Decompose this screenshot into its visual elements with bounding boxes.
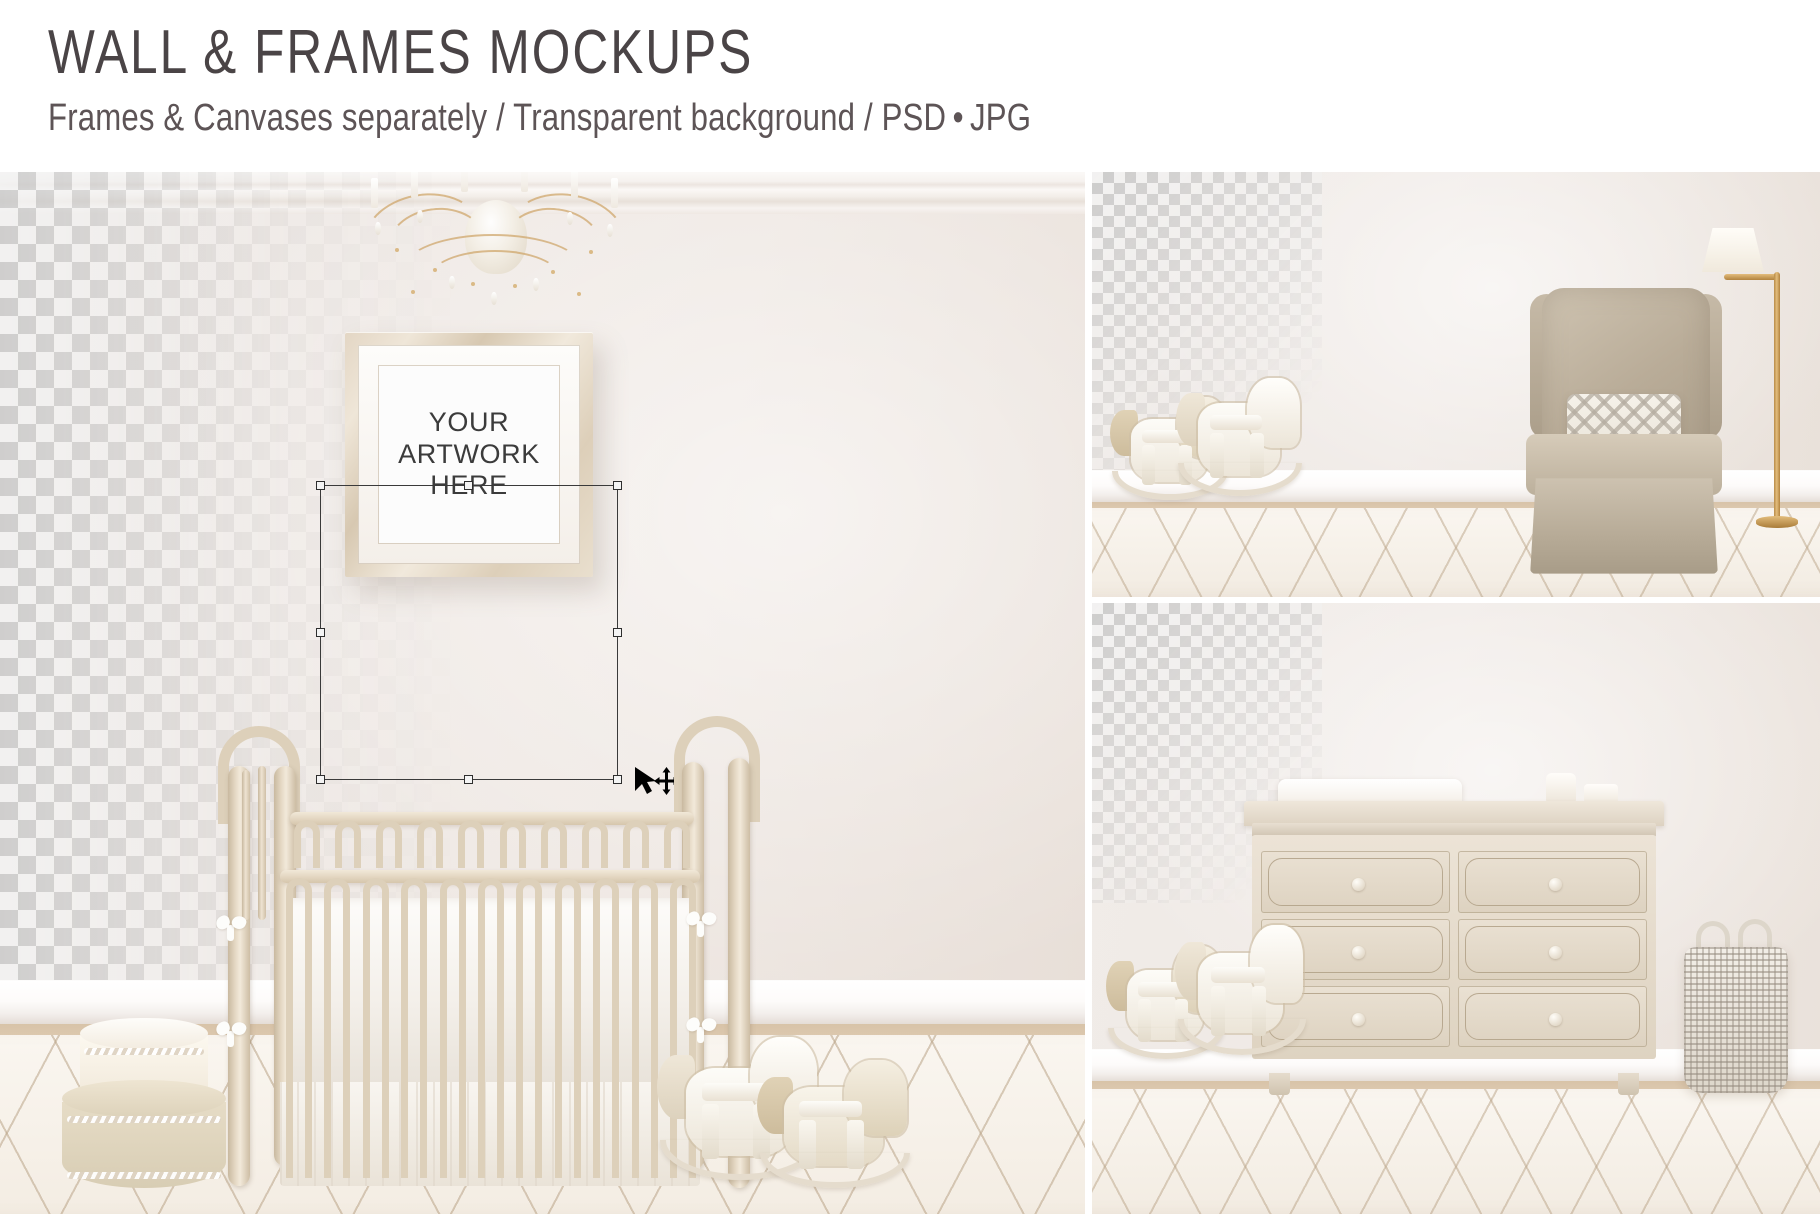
white-rocking-horse xyxy=(1178,917,1306,1055)
mockup-preview-page: WALL & FRAMES MOCKUPS Frames & Canvases … xyxy=(0,0,1820,1214)
lamp-base xyxy=(1756,516,1798,528)
drawer-top-right[interactable] xyxy=(1458,851,1647,913)
page-subtitle: Frames & Canvases separately / Transpare… xyxy=(48,98,1031,140)
artwork-placeholder-text: YOUR ARTWORK HERE xyxy=(398,407,540,503)
page-title: WALL & FRAMES MOCKUPS xyxy=(48,22,753,84)
frame-inner-bevel: YOUR ARTWORK HERE xyxy=(358,345,580,564)
header: WALL & FRAMES MOCKUPS Frames & Canvases … xyxy=(0,0,1820,172)
wingback-armchair xyxy=(1522,288,1726,568)
area-rug xyxy=(1092,1089,1820,1214)
frame-moulding: YOUR ARTWORK HERE xyxy=(345,332,593,577)
crystal-chandelier xyxy=(345,172,645,314)
hat-box-large xyxy=(62,1080,226,1188)
artwork-canvas[interactable]: YOUR ARTWORK HERE xyxy=(379,366,559,543)
lamp-shade xyxy=(1702,228,1764,272)
armchair-scene-panel[interactable] xyxy=(1092,172,1820,597)
frame-mat: YOUR ARTWORK HERE xyxy=(379,366,559,543)
drawer-top-left[interactable] xyxy=(1261,851,1450,913)
six-drawer-dresser xyxy=(1244,801,1664,1081)
drawer-middle-right[interactable] xyxy=(1458,919,1647,981)
white-rocking-horse xyxy=(1178,370,1302,496)
picture-frame-mockup[interactable]: YOUR ARTWORK HERE xyxy=(345,332,593,577)
drawer-bottom-right[interactable] xyxy=(1458,986,1647,1048)
crib-lower-hoops xyxy=(286,878,696,1178)
dresser-scene-panel[interactable] xyxy=(1092,603,1820,1214)
main-scene-panel[interactable]: YOUR ARTWORK HERE xyxy=(0,172,1085,1214)
floor xyxy=(1092,1081,1820,1214)
wooden-rocking-horse xyxy=(760,1052,910,1188)
crib-upper-hoops xyxy=(294,820,690,868)
